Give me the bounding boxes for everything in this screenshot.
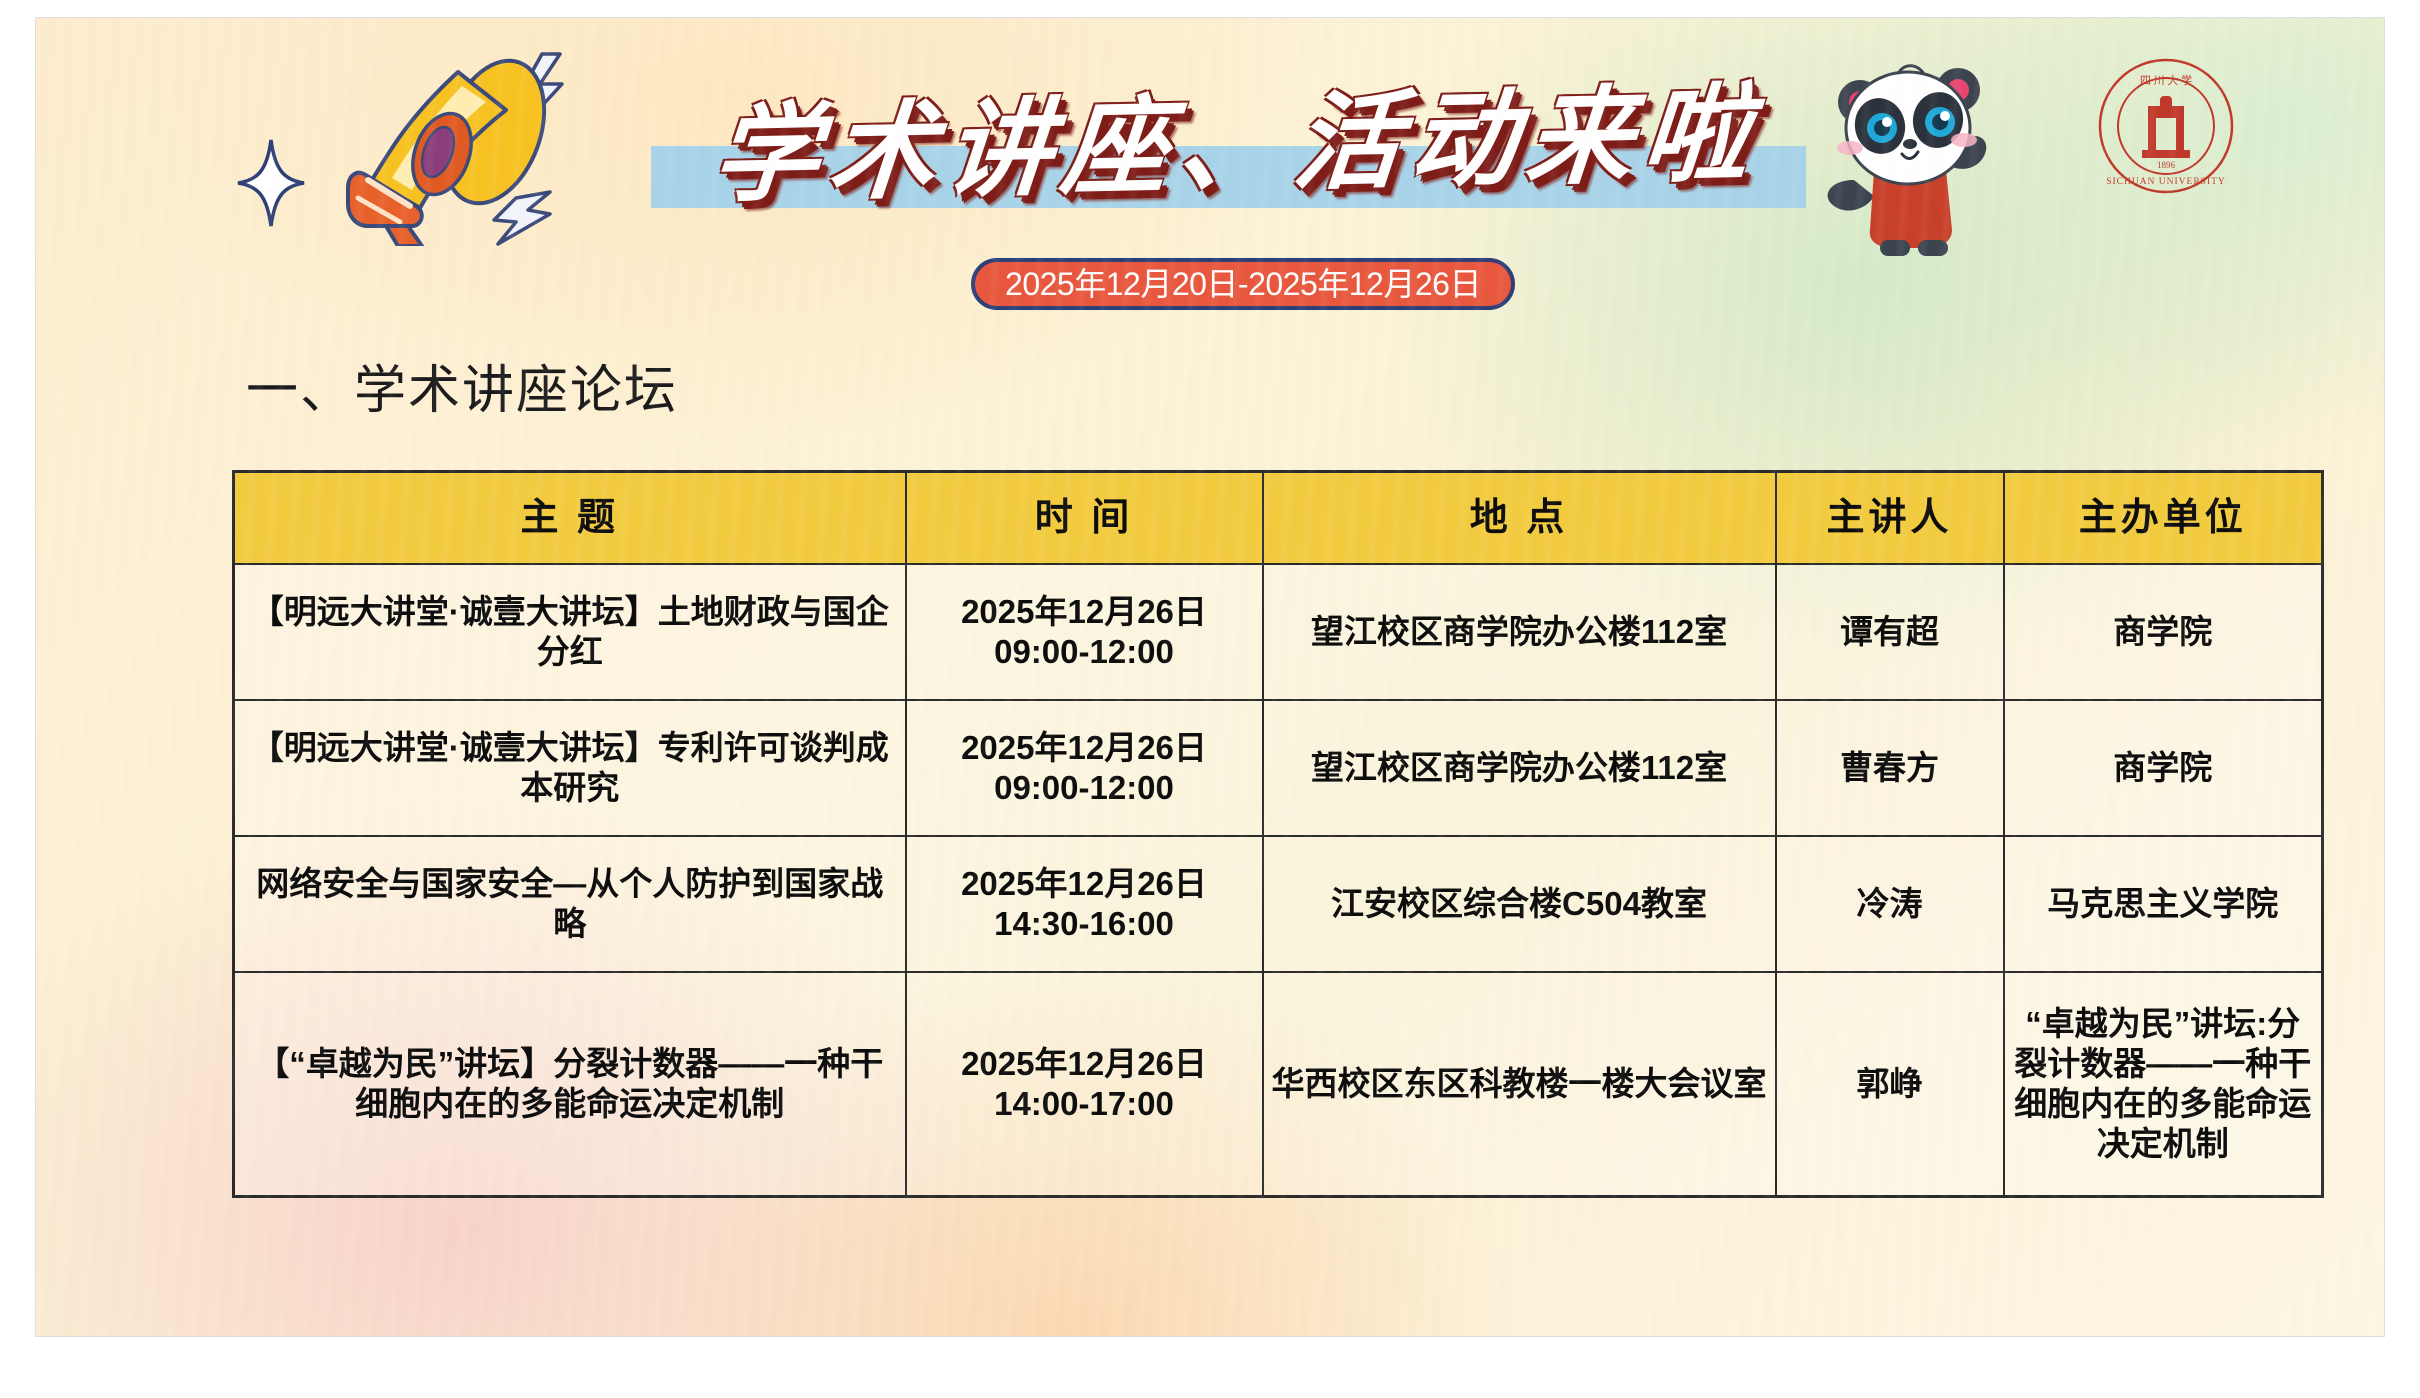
cell-place: 望江校区商学院办公楼112室 <box>1263 564 1776 700</box>
cell-time: 2025年12月26日09:00-12:00 <box>906 700 1263 836</box>
cell-place: 华西校区东区科教楼一楼大会议室 <box>1263 972 1776 1197</box>
table-header-row: 主 题 时 间 地 点 主讲人 主办单位 <box>234 472 2323 565</box>
cell-host: 商学院 <box>2004 700 2323 836</box>
table-row: 网络安全与国家安全—从个人防护到国家战略 2025年12月26日14:30-16… <box>234 836 2323 972</box>
cell-time: 2025年12月26日14:30-16:00 <box>906 836 1263 972</box>
megaphone-icon <box>346 46 626 246</box>
logo-year-text: 1896 <box>2157 160 2176 170</box>
cell-topic: 【明远大讲堂·诚壹大讲坛】专利许可谈判成本研究 <box>234 700 906 836</box>
cell-place: 望江校区商学院办公楼112室 <box>1263 700 1776 836</box>
cell-topic: 【明远大讲堂·诚壹大讲坛】土地财政与国企分红 <box>234 564 906 700</box>
date-range-badge: 2025年12月20日-2025年12月26日 <box>971 258 1515 310</box>
panda-mascot-icon <box>1806 44 2021 259</box>
cell-time: 2025年12月26日09:00-12:00 <box>906 564 1263 700</box>
section-heading: 一、学术讲座论坛 <box>246 348 678 423</box>
sichuan-university-logo: 1896 四 川 大 学 SICHUAN UNIVERSITY <box>2096 56 2236 196</box>
poster-header: 学术讲座、活动来啦 <box>36 18 2384 338</box>
table-row: 【明远大讲堂·诚壹大讲坛】土地财政与国企分红 2025年12月26日09:00-… <box>234 564 2323 700</box>
logo-en-text: SICHUAN UNIVERSITY <box>2106 177 2226 187</box>
column-header-place: 地 点 <box>1263 472 1776 565</box>
cell-speaker: 谭有超 <box>1776 564 2004 700</box>
column-header-host: 主办单位 <box>2004 472 2323 565</box>
logo-cn-text: 四 川 大 学 <box>2140 73 2192 87</box>
table-row: 【明远大讲堂·诚壹大讲坛】专利许可谈判成本研究 2025年12月26日09:00… <box>234 700 2323 836</box>
page-title: 学术讲座、活动来啦 <box>639 64 1833 229</box>
cell-speaker: 冷涛 <box>1776 836 2004 972</box>
cell-speaker: 郭峥 <box>1776 972 2004 1197</box>
sparkle-icon <box>236 138 306 228</box>
cell-speaker: 曹春方 <box>1776 700 2004 836</box>
cell-host: 商学院 <box>2004 564 2323 700</box>
cell-place: 江安校区综合楼C504教室 <box>1263 836 1776 972</box>
cell-host: 马克思主义学院 <box>2004 836 2323 972</box>
cell-time: 2025年12月26日14:00-17:00 <box>906 972 1263 1197</box>
column-header-topic: 主 题 <box>234 472 906 565</box>
poster-slide: 学术讲座、活动来啦 <box>36 18 2384 1336</box>
column-header-time: 时 间 <box>906 472 1263 565</box>
cell-host: “卓越为民”讲坛:分裂计数器——一种干细胞内在的多能命运决定机制 <box>2004 972 2323 1197</box>
cell-topic: 【“卓越为民”讲坛】分裂计数器——一种干细胞内在的多能命运决定机制 <box>234 972 906 1197</box>
lecture-schedule-table: 主 题 时 间 地 点 主讲人 主办单位 【明远大讲堂·诚壹大讲坛】土地财政与国… <box>232 470 2324 1198</box>
cell-topic: 网络安全与国家安全—从个人防护到国家战略 <box>234 836 906 972</box>
column-header-speaker: 主讲人 <box>1776 472 2004 565</box>
table-row: 【“卓越为民”讲坛】分裂计数器——一种干细胞内在的多能命运决定机制 2025年1… <box>234 972 2323 1197</box>
